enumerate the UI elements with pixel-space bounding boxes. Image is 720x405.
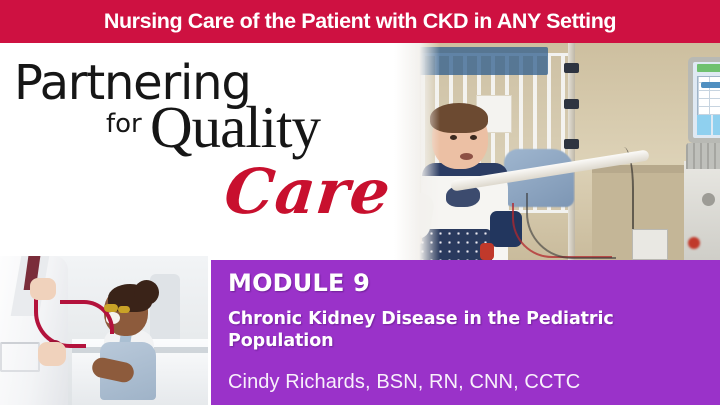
photo-line-connector: [480, 243, 494, 260]
photo-doctor-and-child: [0, 256, 208, 405]
banner-title: Nursing Care of the Patient with CKD in …: [104, 11, 616, 33]
photo-child-mouth: [460, 153, 473, 160]
photo-bed-linen-fade: [394, 43, 440, 260]
photo-stethoscope-earpiece: [118, 306, 130, 313]
module-title-panel: MODULE 9 Chronic Kidney Disease in the P…: [211, 260, 720, 405]
photo-screen-trend: [701, 82, 720, 88]
photo-doctor-hand-lower: [38, 342, 66, 366]
photo-monitor-screen: [693, 62, 720, 138]
header-banner: Nursing Care of the Patient with CKD in …: [0, 0, 720, 43]
photo-pole-clamp: [564, 139, 579, 149]
module-subtitle: Chronic Kidney Disease in the Pediatric …: [228, 308, 668, 352]
photo-screen-buttons: [697, 115, 720, 135]
logo-word-for: for: [106, 111, 142, 137]
presenter-name: Cindy Richards, BSN, RN, CNN, CCTC: [228, 372, 580, 392]
photo-pole-clamp: [564, 99, 579, 109]
slide-canvas: Nursing Care of the Patient with CKD in …: [0, 0, 720, 405]
photo-pole-clamp: [564, 63, 579, 73]
photo-child-eye: [450, 135, 457, 140]
photo-stethoscope-earpiece: [104, 304, 118, 312]
photo-screen-titlebar: [697, 64, 720, 72]
photo-doctor-hand-upper: [30, 278, 56, 300]
brand-logo: Partnering for Quality Care: [0, 43, 400, 258]
photo-child-eye: [470, 135, 477, 140]
photo-machine-keypad: [686, 143, 720, 169]
module-number: MODULE 9: [228, 271, 370, 295]
logo-word-care: Care: [222, 161, 394, 223]
photo-dialysis-monitor: [688, 57, 720, 143]
photo-equipment-box: [632, 229, 668, 260]
photo-machine-indicator: [688, 237, 700, 249]
photo-girl-hair-bun: [134, 280, 159, 305]
photo-coat-pocket: [0, 342, 40, 372]
photo-pediatric-dialysis: [394, 43, 720, 260]
logo-word-quality: Quality: [150, 98, 320, 157]
photo-valve: [702, 193, 715, 206]
